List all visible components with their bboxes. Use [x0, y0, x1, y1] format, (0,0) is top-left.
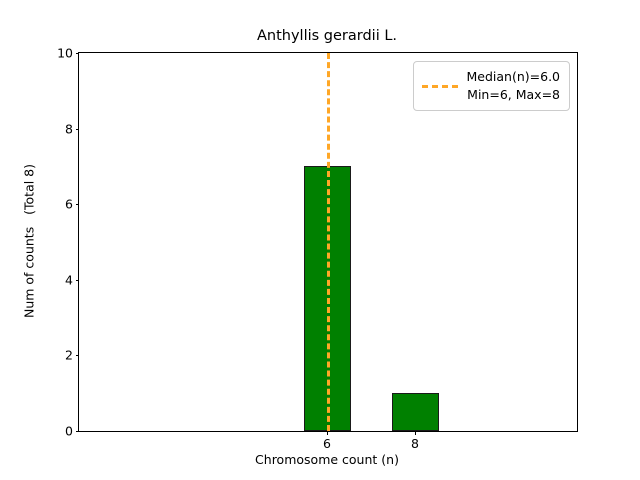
legend-label-median: Median(n)=6.0 [467, 68, 561, 86]
y-tick-label: 4 [65, 272, 73, 287]
x-tick-mark [415, 431, 416, 435]
legend-label-range: Min=6, Max=8 [467, 86, 560, 104]
legend-entry-median: Median(n)=6.0 Min=6, Max=8 [422, 68, 561, 104]
x-tick-mark [327, 431, 328, 435]
dashed-line-icon [422, 85, 458, 88]
bar-8[interactable] [392, 393, 439, 431]
plot-area: 10 8 6 4 2 0 6 8 [78, 52, 578, 432]
chart-title: Anthyllis gerardii L. [78, 28, 576, 44]
legend[interactable]: Median(n)=6.0 Min=6, Max=8 [413, 61, 571, 111]
y-tick-label: 2 [65, 348, 73, 363]
x-tick-label: 6 [323, 436, 331, 451]
y-tick-label: 6 [65, 197, 73, 212]
figure-canvas: Anthyllis gerardii L. 10 8 6 4 2 0 [0, 0, 640, 480]
legend-text-group: Median(n)=6.0 Min=6, Max=8 [467, 68, 561, 104]
y-axis-label-text: Num of counts (Total 8) [22, 164, 37, 318]
x-axis-label: Chromosome count (n) [78, 452, 576, 467]
x-tick-label: 8 [411, 436, 419, 451]
y-tick-mark [76, 431, 80, 432]
y-tick-label: 0 [65, 424, 73, 439]
y-tick-label: 8 [65, 121, 73, 136]
median-line [327, 53, 330, 431]
y-tick-label: 10 [57, 46, 73, 61]
